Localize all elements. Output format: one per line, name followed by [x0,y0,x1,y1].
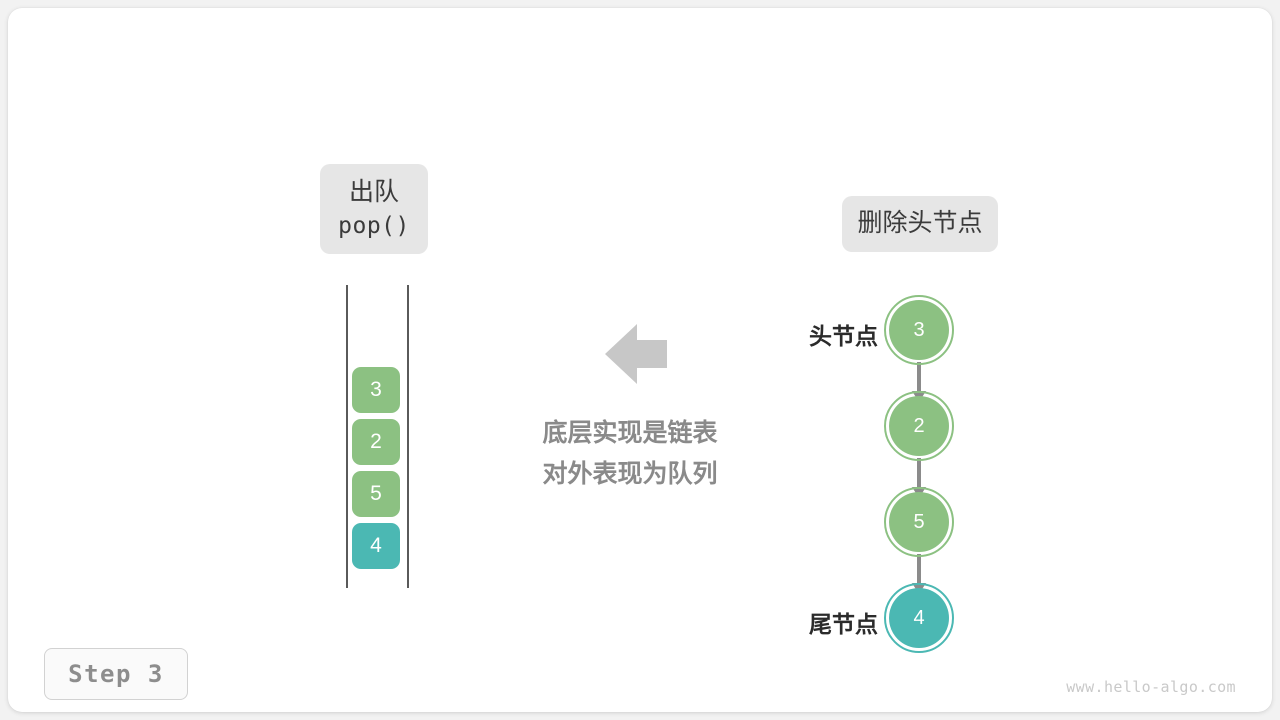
queue-operation-badge-line2: pop() [338,210,410,243]
queue-item-value: 4 [370,534,382,558]
list-node: 3 [889,300,949,360]
list-node: 4 [889,588,949,648]
queue-item: 2 [352,419,400,465]
queue-item-value: 5 [370,482,382,506]
diagram-canvas: 出队 pop() 3254 底层实现是链表 对外表现为队列 删除头节点 3254… [8,8,1272,712]
queue-operation-badge: 出队 pop() [320,164,428,254]
watermark: www.hello-algo.com [1066,678,1236,696]
list-node-value: 5 [913,511,924,534]
list-operation-badge: 删除头节点 [842,196,998,252]
queue-item-value: 2 [370,430,382,454]
center-caption-line2: 对外表现为队列 [490,454,770,495]
list-node: 2 [889,396,949,456]
queue-item: 5 [352,471,400,517]
list-node-value: 3 [913,319,924,342]
node-connector-arrow [917,554,921,584]
queue-rail-left [346,285,348,588]
node-connector-arrow [917,362,921,392]
left-arrow-icon [597,318,673,395]
list-operation-badge-label: 删除头节点 [857,206,982,242]
center-caption-line1: 底层实现是链表 [490,413,770,454]
node-connector-arrow [917,458,921,488]
list-node: 5 [889,492,949,552]
head-node-label: 头节点 [768,317,878,351]
queue-item: 3 [352,367,400,413]
tail-node-label: 尾节点 [768,605,878,639]
step-badge: Step 3 [44,648,188,700]
queue-rail-right [407,285,409,588]
center-caption: 底层实现是链表 对外表现为队列 [490,413,770,494]
list-node-value: 2 [913,415,924,438]
queue-item: 4 [352,523,400,569]
list-node-value: 4 [913,607,924,630]
queue-operation-badge-line1: 出队 [349,175,399,211]
queue-item-value: 3 [370,378,382,402]
